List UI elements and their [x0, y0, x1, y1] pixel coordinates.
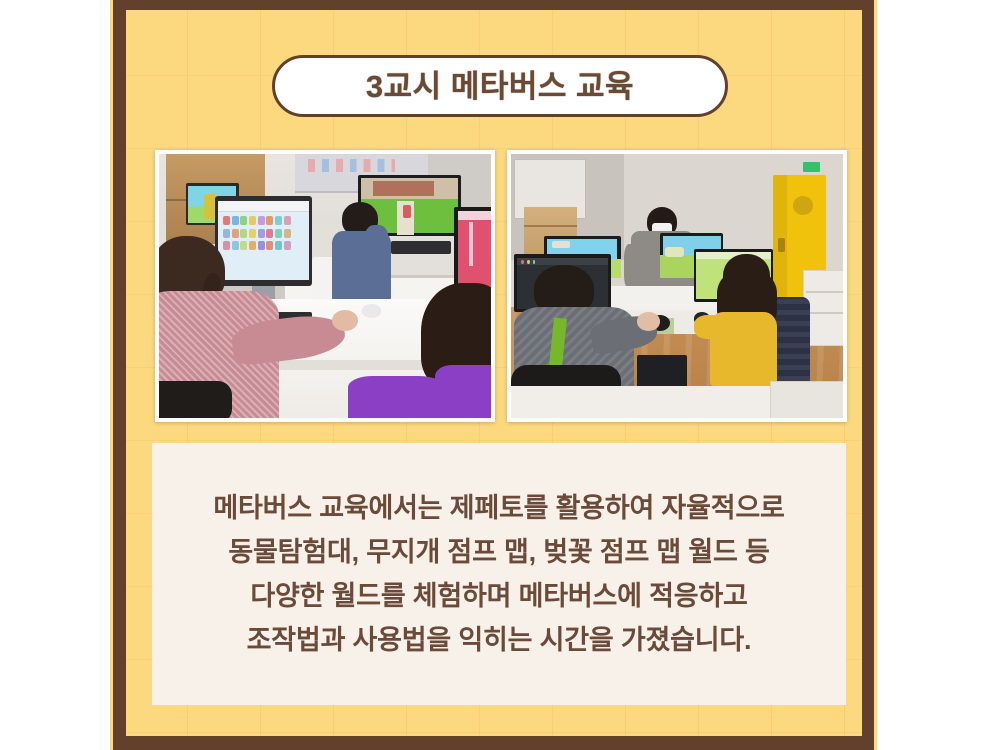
- photo-right: [507, 150, 847, 422]
- photo-left: [155, 150, 495, 422]
- description-line-1: 메타버스 교육에서는 제페토를 활용하여 자율적으로: [213, 486, 784, 530]
- title-pill: 3교시 메타버스 교육: [272, 55, 728, 117]
- photo-row: [155, 150, 855, 422]
- photo-left-image: [159, 154, 491, 418]
- page-title: 3교시 메타버스 교육: [366, 71, 634, 102]
- description-line-2: 동물탐험대, 무지개 점프 맵, 벚꽃 점프 맵 월드 등: [228, 530, 769, 574]
- description-panel: 메타버스 교육에서는 제페토를 활용하여 자율적으로 동물탐험대, 무지개 점프…: [152, 443, 846, 705]
- photo-right-image: [511, 154, 843, 418]
- description-line-3: 다양한 월드를 체험하며 메타버스에 적응하고: [250, 574, 747, 618]
- poster-card: 3교시 메타버스 교육: [0, 0, 1000, 750]
- description-line-4: 조작법과 사용법을 익히는 시간을 가졌습니다.: [247, 618, 752, 662]
